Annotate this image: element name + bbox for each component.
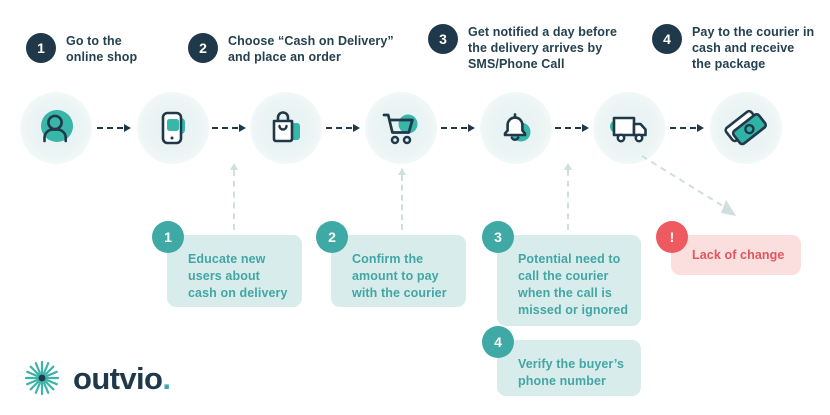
arrow-head <box>353 124 360 132</box>
dash-line <box>233 170 235 230</box>
cash-banknotes-icon <box>723 105 769 151</box>
dash-line <box>212 127 238 129</box>
arrow-truck-to-cash <box>670 123 704 133</box>
user-avatar-icon <box>34 106 78 150</box>
dash-line <box>326 127 352 129</box>
arrow-head <box>564 163 572 170</box>
note-card-4[interactable]: 4 Verify the buyer’s phone number <box>497 340 641 396</box>
delivery-truck-icon <box>605 106 653 150</box>
dash-line <box>97 127 123 129</box>
brand-name: outvio. <box>73 363 170 394</box>
arrow-head <box>398 168 406 175</box>
step-header-4: 4 Pay to the courier in cash and receive… <box>652 9 830 72</box>
step-header-label: Choose “Cash on Delivery” and place an o… <box>228 18 394 65</box>
note-card-text: Confirm the amount to pay with the couri… <box>331 235 466 302</box>
arrow-head <box>697 124 704 132</box>
arrow-phone-to-bag <box>212 123 246 133</box>
note-card-2[interactable]: 2 Confirm the amount to pay with the cou… <box>331 235 466 307</box>
flow-icon-mobile-phone <box>137 92 209 164</box>
note-card-text: Verify the buyer’s phone number <box>497 340 641 390</box>
arrow-cart-to-bell <box>441 123 475 133</box>
shopping-bag-icon <box>264 106 308 150</box>
dash-line <box>401 175 403 230</box>
arrow-note2-to-cart <box>397 168 407 230</box>
brand-name-text: outvio <box>73 361 162 396</box>
step-header-label: Pay to the courier in cash and receive t… <box>692 9 814 72</box>
arrow-note1-to-phone <box>229 163 239 230</box>
flow-icon-shopping-cart <box>365 92 437 164</box>
step-header-3: 3 Get notified a day before the delivery… <box>428 9 643 72</box>
note-card-text: Potential need to call the courier when … <box>497 235 641 319</box>
arrow-head <box>582 124 589 132</box>
step-header-label: Get notified a day before the delivery a… <box>468 9 617 72</box>
arrow-truck-to-alert <box>638 150 748 225</box>
arrow-note3-to-bell <box>563 163 573 230</box>
notification-bell-icon <box>494 106 538 150</box>
dash-line <box>567 170 569 230</box>
arrow-user-to-phone <box>97 123 131 133</box>
note-card-1[interactable]: 1 Educate new users about cash on delive… <box>167 235 302 307</box>
step-number-badge: 4 <box>652 24 682 54</box>
flow-icon-shopping-bag <box>250 92 322 164</box>
brand-name-dot: . <box>162 361 170 396</box>
step-header-2: 2 Choose “Cash on Delivery” and place an… <box>188 18 408 65</box>
infographic-canvas: 1 Go to the online shop 2 Choose “Cash o… <box>0 0 830 415</box>
step-header-1: 1 Go to the online shop <box>26 18 206 65</box>
flow-icon-notification-bell <box>480 92 552 164</box>
dash-line <box>670 127 696 129</box>
step-number-badge: 1 <box>26 33 56 63</box>
step-header-label: Go to the online shop <box>66 18 137 65</box>
note-card-badge: 3 <box>482 221 514 253</box>
shopping-cart-icon <box>378 106 424 150</box>
starburst-icon <box>22 358 62 398</box>
note-card-3[interactable]: 3 Potential need to call the courier whe… <box>497 235 641 326</box>
flow-icon-user-avatar <box>20 92 92 164</box>
arrow-head <box>239 124 246 132</box>
alert-card-text: Lack of change <box>671 235 801 264</box>
alert-exclamation-icon: ! <box>656 221 688 253</box>
step-number-badge: 2 <box>188 33 218 63</box>
note-card-badge: 4 <box>482 326 514 358</box>
arrow-head <box>468 124 475 132</box>
arrow-bag-to-cart <box>326 123 360 133</box>
brand-logo: outvio. <box>22 358 170 398</box>
note-card-badge: 1 <box>152 221 184 253</box>
note-card-text: Educate new users about cash on delivery <box>167 235 302 302</box>
dash-line <box>441 127 467 129</box>
arrow-head <box>230 163 238 170</box>
mobile-phone-icon <box>151 106 195 150</box>
arrow-head <box>124 124 131 132</box>
dash-line <box>555 127 581 129</box>
step-number-badge: 3 <box>428 24 458 54</box>
arrow-bell-to-truck <box>555 123 589 133</box>
alert-card-lack-of-change[interactable]: ! Lack of change <box>671 235 801 275</box>
note-card-badge: 2 <box>316 221 348 253</box>
